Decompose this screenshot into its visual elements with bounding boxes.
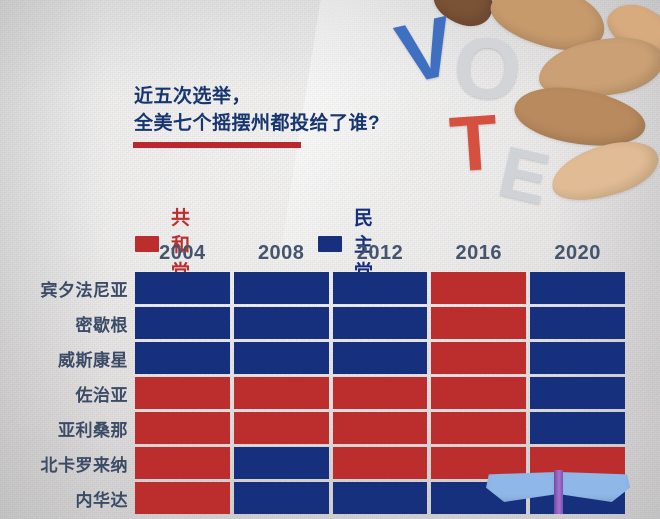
result-cells <box>135 272 625 304</box>
table-row: 密歇根 <box>0 307 660 339</box>
state-label-5: 北卡罗来纳 <box>0 447 128 479</box>
state-label-0: 宾夕法尼亚 <box>0 272 128 304</box>
year-header-row: 20042008201220162020 <box>135 242 625 268</box>
table-row: 宾夕法尼亚 <box>0 272 660 304</box>
result-cells <box>135 377 625 409</box>
result-cell-2012-democratic <box>333 482 428 514</box>
result-cell-2012-democratic <box>333 272 428 304</box>
result-cell-2008-republican <box>234 377 329 409</box>
ribbon-graphic <box>486 470 636 519</box>
result-cell-2004-republican <box>135 377 230 409</box>
result-cell-2004-democratic <box>135 307 230 339</box>
ribbon-right-wing-icon <box>560 472 630 502</box>
result-cell-2012-republican <box>333 412 428 444</box>
result-cell-2016-republican <box>431 377 526 409</box>
table-row: 佐治亚 <box>0 377 660 409</box>
result-cell-2020-democratic <box>530 272 625 304</box>
state-label-4: 亚利桑那 <box>0 412 128 444</box>
result-cell-2004-republican <box>135 412 230 444</box>
result-cell-2004-republican <box>135 482 230 514</box>
ribbon-stem-icon <box>554 470 563 514</box>
result-cell-2016-republican <box>431 342 526 374</box>
year-header-2020: 2020 <box>530 242 625 268</box>
result-cell-2004-democratic <box>135 342 230 374</box>
state-label-1: 密歇根 <box>0 307 128 339</box>
state-label-6: 内华达 <box>0 482 128 514</box>
result-cell-2012-republican <box>333 377 428 409</box>
result-cell-2004-democratic <box>135 272 230 304</box>
title-underline <box>133 142 301 148</box>
result-cells <box>135 342 625 374</box>
result-cell-2008-democratic <box>234 482 329 514</box>
result-cell-2012-democratic <box>333 342 428 374</box>
year-header-2012: 2012 <box>333 242 428 268</box>
ribbon-left-wing-icon <box>486 472 556 502</box>
result-cell-2008-republican <box>234 412 329 444</box>
year-header-2008: 2008 <box>234 242 329 268</box>
result-cells <box>135 307 625 339</box>
result-cell-2008-democratic <box>234 272 329 304</box>
year-header-2016: 2016 <box>431 242 526 268</box>
result-cell-2016-republican <box>431 412 526 444</box>
page-title-line-2: 全美七个摇摆州都投给了谁? <box>134 111 464 138</box>
result-cell-2012-republican <box>333 447 428 479</box>
table-row: 威斯康星 <box>0 342 660 374</box>
result-cell-2012-democratic <box>333 307 428 339</box>
result-cell-2016-republican <box>431 307 526 339</box>
result-cell-2008-democratic <box>234 342 329 374</box>
result-cell-2008-democratic <box>234 307 329 339</box>
state-label-3: 佐治亚 <box>0 377 128 409</box>
year-header-2004: 2004 <box>135 242 230 268</box>
page-title: 近五次选举， 全美七个摇摆州都投给了谁? <box>134 84 464 138</box>
result-cell-2020-democratic <box>530 412 625 444</box>
page-title-line-1: 近五次选举， <box>134 84 464 111</box>
result-cell-2004-republican <box>135 447 230 479</box>
result-cell-2020-democratic <box>530 377 625 409</box>
result-cell-2008-democratic <box>234 447 329 479</box>
table-row: 亚利桑那 <box>0 412 660 444</box>
infographic-canvas: V O T E 近五次选举， 全美七个摇摆州都投给了谁? 共和党 民主党 200… <box>0 0 660 519</box>
state-label-2: 威斯康星 <box>0 342 128 374</box>
result-cell-2016-republican <box>431 272 526 304</box>
result-cell-2020-democratic <box>530 307 625 339</box>
result-cell-2020-democratic <box>530 342 625 374</box>
result-cells <box>135 412 625 444</box>
